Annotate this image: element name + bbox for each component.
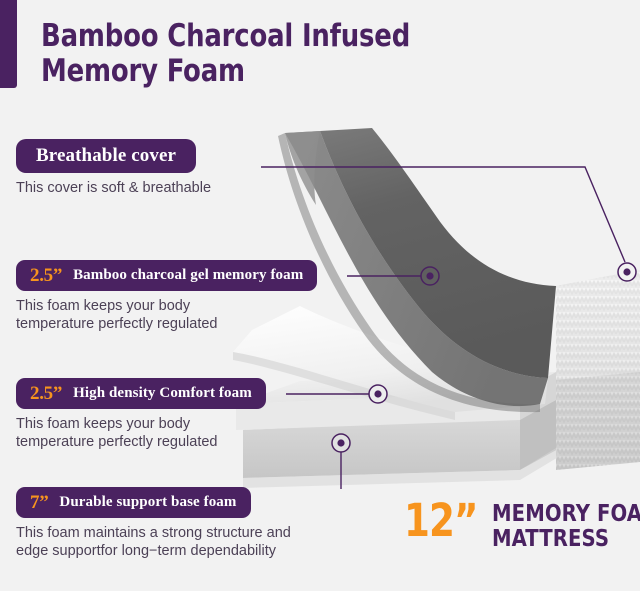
callout-cover: Breathable cover This cover is soft & br… bbox=[16, 139, 211, 198]
badge-cover-label: Breathable cover bbox=[36, 146, 176, 165]
spec-thickness: 12” bbox=[404, 500, 478, 541]
page-title-line-2: Memory Foam bbox=[41, 54, 525, 89]
callout-cover-description: This cover is soft & breathable bbox=[16, 180, 211, 198]
badge-gel-label: Bamboo charcoal gel memory foam bbox=[73, 268, 303, 283]
badge-cover[interactable]: Breathable cover bbox=[16, 139, 196, 173]
badge-comfort-label: High density Comfort foam bbox=[73, 386, 252, 401]
page-title: Bamboo Charcoal Infused Memory Foam bbox=[41, 19, 525, 88]
product-spec: 12” MEMORY FOAM MATTRESS bbox=[404, 500, 640, 552]
title-accent-bar bbox=[0, 0, 17, 88]
callout-gel-description: This foam keeps your body temperature pe… bbox=[16, 298, 317, 333]
badge-base-label: Durable support base foam bbox=[59, 495, 236, 510]
spec-product-name: MEMORY FOAM MATTRESS bbox=[492, 500, 640, 552]
badge-comfort-measure: 2.5” bbox=[30, 384, 62, 403]
callout-comfort-description: This foam keeps your body temperature pe… bbox=[16, 416, 266, 451]
callout-base: 7” Durable support base foam This foam m… bbox=[16, 487, 291, 560]
spec-name-line-1: MEMORY FOAM bbox=[492, 502, 640, 527]
badge-base-measure: 7” bbox=[30, 493, 48, 512]
page-title-line-1: Bamboo Charcoal Infused bbox=[41, 19, 525, 54]
spec-name-line-2: MATTRESS bbox=[492, 527, 640, 552]
badge-gel-measure: 2.5” bbox=[30, 266, 62, 285]
badge-comfort[interactable]: 2.5” High density Comfort foam bbox=[16, 378, 266, 409]
badge-base[interactable]: 7” Durable support base foam bbox=[16, 487, 251, 518]
callout-gel: 2.5” Bamboo charcoal gel memory foam Thi… bbox=[16, 260, 317, 333]
callout-base-description: This foam maintains a strong structure a… bbox=[16, 525, 291, 560]
layer-knit-cover-panel bbox=[556, 270, 640, 470]
callout-comfort: 2.5” High density Comfort foam This foam… bbox=[16, 378, 266, 451]
mattress-layers-infographic: Bamboo Charcoal Infused Memory Foam Brea… bbox=[0, 0, 640, 591]
badge-gel[interactable]: 2.5” Bamboo charcoal gel memory foam bbox=[16, 260, 317, 291]
